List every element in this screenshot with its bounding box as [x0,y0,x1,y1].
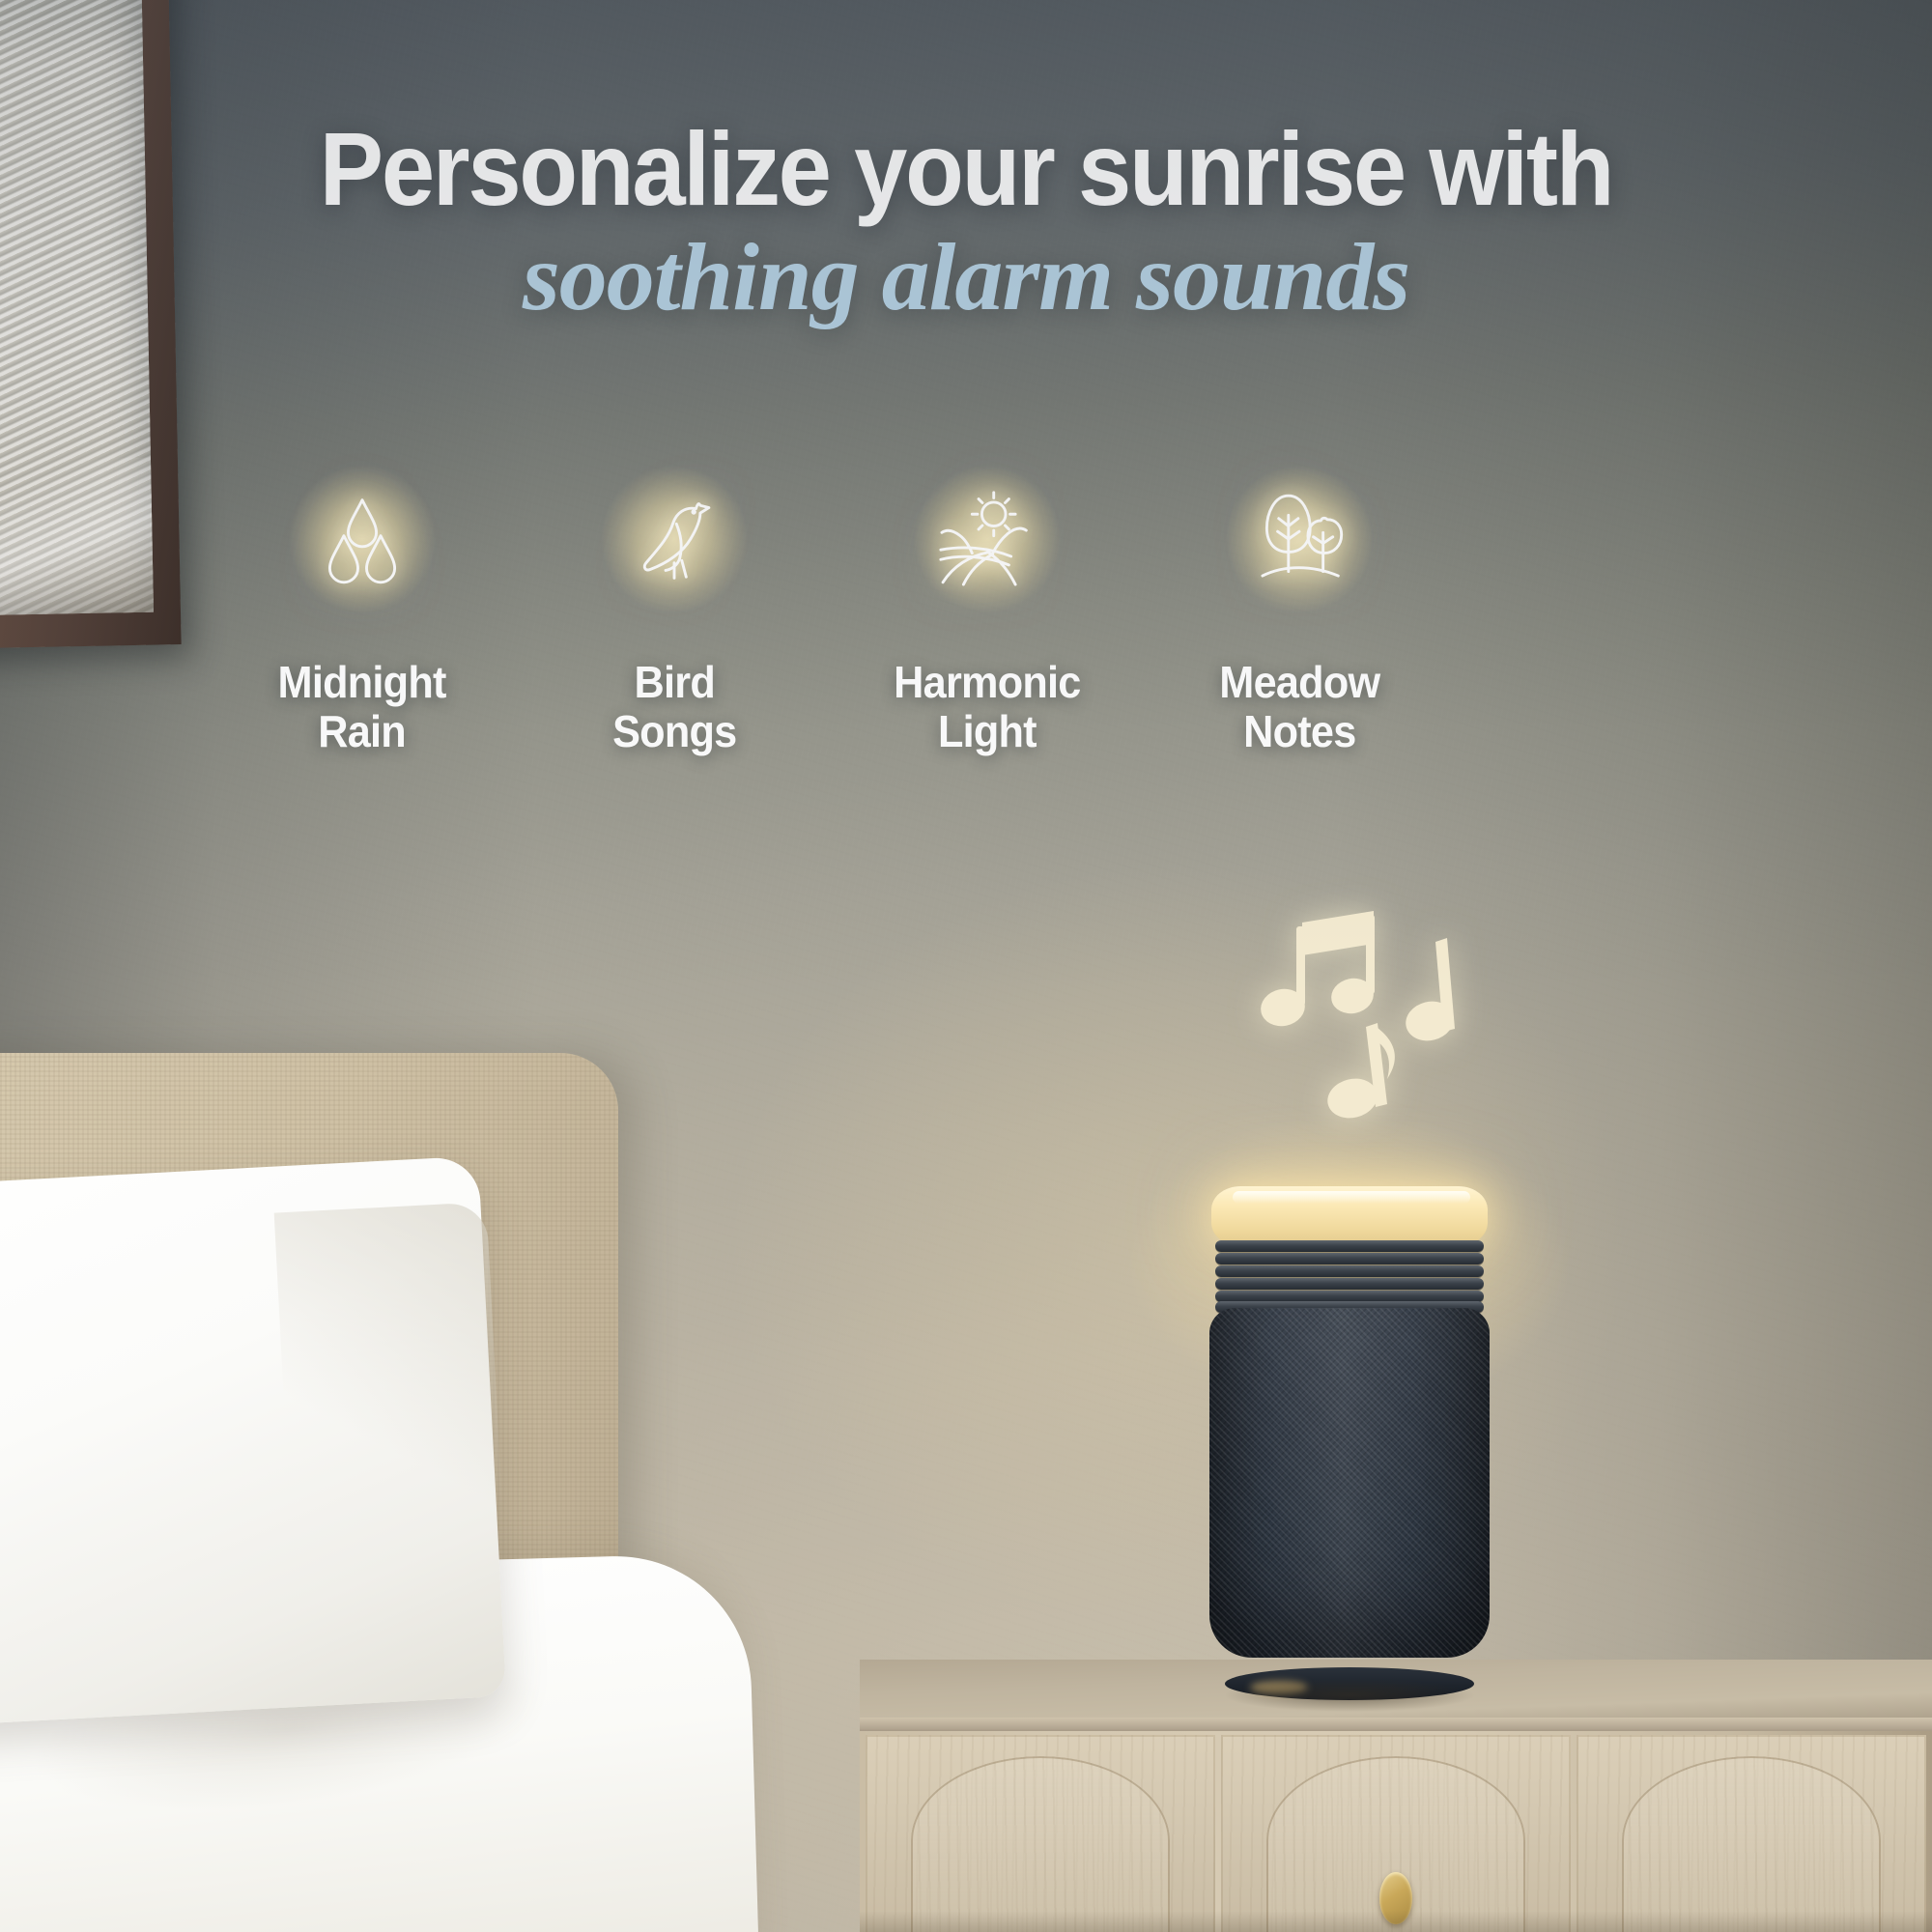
feature-icon-row: Midnight Rain Bird Songs [241,449,1420,755]
feature-label-line1: Meadow [1219,658,1379,707]
feature-label-line2: Light [894,707,1080,756]
speaker-mesh-texture [1209,1308,1490,1658]
pillow-fold [274,1202,508,1618]
headline-line-1: Personalize your sunrise with [77,116,1855,222]
arched-panel-carving [911,1756,1170,1932]
sunrise-field-icon [897,449,1077,629]
arched-panel-carving [1622,1756,1881,1932]
feature-item-meadow-notes[interactable]: Meadow Notes [1179,449,1420,755]
speaker-ribbed-collar [1215,1240,1484,1312]
eighth-note-icon-right [1402,938,1458,1045]
headline-line-2: soothing alarm sounds [0,226,1932,327]
feature-label-line2: Rain [278,707,446,756]
trees-icon [1209,449,1389,629]
feature-label-line2: Notes [1219,707,1379,756]
music-notes-group [1246,894,1536,1145]
feature-item-midnight-rain[interactable]: Midnight Rain [241,449,483,755]
lifestyle-hero-image: Personalize your sunrise with soothing a… [0,0,1932,1932]
nightstand-floor-shadow [860,1911,1932,1932]
beamed-eighth-notes-icon [1258,911,1378,1030]
feature-label-harmonic-light: Harmonic Light [894,658,1080,755]
pillow [0,1156,506,1733]
nightstand-door-left[interactable] [866,1735,1215,1932]
bird-icon [584,449,764,629]
feature-item-harmonic-light[interactable]: Harmonic Light [867,449,1108,755]
nightstand-door-row [866,1735,1926,1932]
feature-label-meadow-notes: Meadow Notes [1219,658,1379,755]
nightstand-door-center[interactable] [1221,1735,1571,1932]
feature-item-bird-songs[interactable]: Bird Songs [554,449,795,755]
artwork-dune-ridge [0,458,154,617]
feature-label-line2: Songs [612,707,736,756]
feature-label-line1: Midnight [278,658,446,707]
eighth-note-icon-bottom [1323,1023,1395,1123]
speaker-contact-shadow [1180,1673,1519,1718]
feature-label-bird-songs: Bird Songs [612,658,736,755]
raindrops-icon [272,449,452,629]
speaker-light-panel[interactable] [1211,1186,1488,1246]
feature-label-line1: Harmonic [894,658,1080,707]
speaker-mesh-body [1209,1308,1490,1658]
sunrise-alarm-speaker[interactable] [1209,1186,1490,1689]
headline-block: Personalize your sunrise with soothing a… [0,116,1932,327]
nightstand-door-right[interactable] [1577,1735,1926,1932]
feature-label-line1: Bird [612,658,736,707]
speaker-light-highlight [1233,1191,1470,1204]
feature-label-midnight-rain: Midnight Rain [278,658,446,755]
